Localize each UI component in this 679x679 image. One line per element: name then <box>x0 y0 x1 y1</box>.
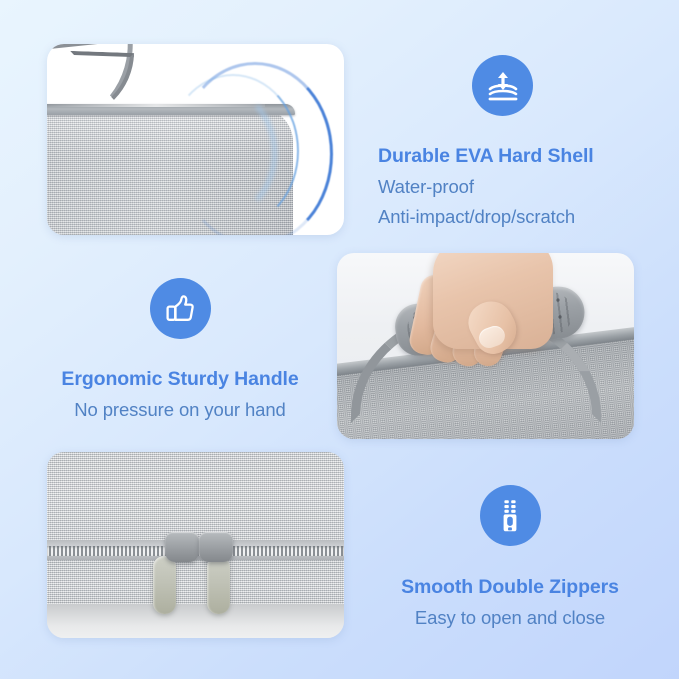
feature-block-smooth-double-zippers: Smooth Double Zippers Easy to open and c… <box>360 485 660 629</box>
feature-line: Anti-impact/drop/scratch <box>378 206 594 228</box>
feature-block-ergonomic-sturdy-handle: Ergonomic Sturdy Handle No pressure on y… <box>30 278 330 421</box>
feature-line: Easy to open and close <box>360 607 660 629</box>
zipper-icon <box>480 485 541 546</box>
zipper-pull-tab-left <box>153 556 176 614</box>
zipper-slider-right <box>199 532 233 562</box>
double-zipper-photo <box>47 452 344 638</box>
water-drop-impact-icon <box>472 55 533 116</box>
feature-title: Durable EVA Hard Shell <box>378 145 594 168</box>
thumbs-up-icon <box>150 278 211 339</box>
feature-title: Smooth Double Zippers <box>360 576 660 599</box>
feature-line: No pressure on your hand <box>30 399 330 421</box>
zipper-pull-tab-right <box>207 556 230 614</box>
handle-in-hand-photo <box>337 253 634 439</box>
product-feature-infographic: Durable EVA Hard Shell Water-proof Anti-… <box>0 0 679 679</box>
case-base-surface <box>47 604 344 638</box>
zipper-slider-left <box>165 532 199 562</box>
accent-arc-secondary <box>167 74 299 228</box>
hard-shell-corner-photo <box>47 44 344 235</box>
feature-title: Ergonomic Sturdy Handle <box>30 368 330 391</box>
feature-line: Water-proof <box>378 176 594 198</box>
feature-block-durable-eva-hard-shell: Durable EVA Hard Shell Water-proof Anti-… <box>378 55 594 228</box>
